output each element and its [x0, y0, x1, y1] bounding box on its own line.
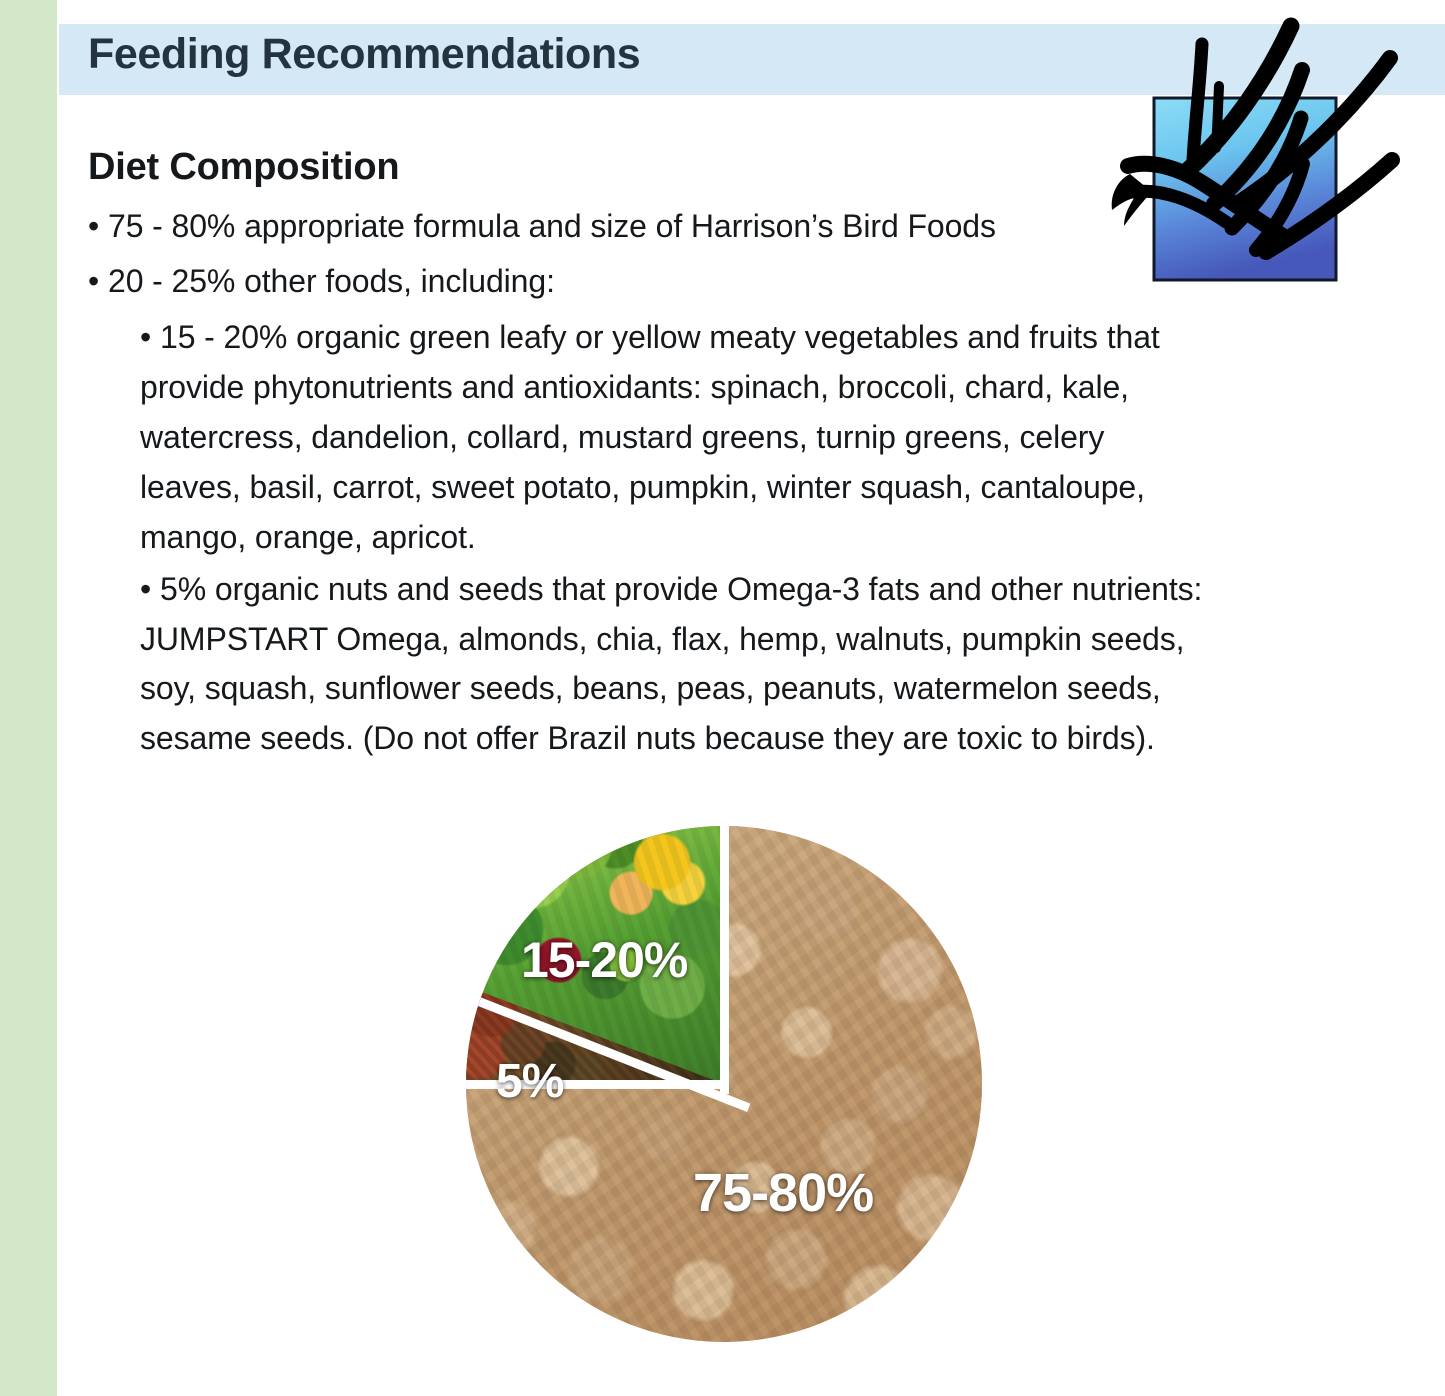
- bullet-marker: •: [88, 208, 99, 244]
- content-body: Diet Composition • 75 - 80% appropriate …: [88, 148, 1208, 764]
- bullet-item: • 20 - 25% other foods, including:: [88, 257, 1208, 307]
- bullet-text: 15 - 20% organic green leafy or yellow m…: [140, 319, 1160, 555]
- bullet-text: 5% organic nuts and seeds that provide O…: [140, 571, 1202, 757]
- bullet-marker: •: [140, 319, 151, 355]
- diet-composition-pie-chart: 15-20% 5% 75-80%: [466, 826, 982, 1342]
- bullet-item: • 5% organic nuts and seeds that provide…: [88, 565, 1208, 765]
- bullet-marker: •: [88, 263, 99, 299]
- pie-divider-vertical: [720, 826, 729, 1094]
- bullet-text: 75 - 80% appropriate formula and size of…: [108, 208, 996, 244]
- left-accent-strip: [0, 0, 57, 1396]
- bullet-text: 20 - 25% other foods, including:: [108, 263, 555, 299]
- section-heading-diet-composition: Diet Composition: [88, 148, 1208, 188]
- pie-circle: [466, 826, 982, 1342]
- bullet-marker: •: [140, 571, 151, 607]
- page-title: Feeding Recommendations: [88, 30, 640, 79]
- bullet-item: • 15 - 20% organic green leafy or yellow…: [88, 313, 1208, 563]
- bullet-item: • 75 - 80% appropriate formula and size …: [88, 202, 1208, 252]
